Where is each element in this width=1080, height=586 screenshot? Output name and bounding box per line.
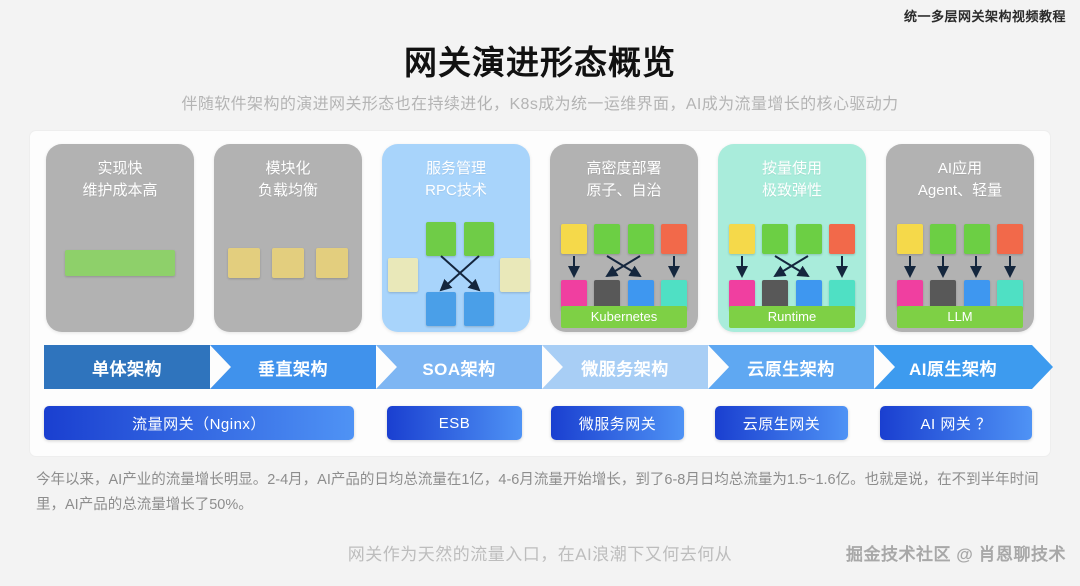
chevron-monolith[interactable]: 单体架构 xyxy=(44,345,210,389)
chevron-notch-icon xyxy=(542,345,563,389)
card-diagram: LLM xyxy=(886,220,1034,332)
chevron-notch-icon xyxy=(874,345,895,389)
chevron-label: 垂直架构 xyxy=(258,355,328,380)
gateway-label: 云原生网关 xyxy=(743,413,821,434)
chevron-soa[interactable]: SOA架构 xyxy=(376,345,542,389)
vertical-block xyxy=(316,248,348,278)
chevron-label: 云原生架构 xyxy=(747,355,835,380)
gateway-pill-nginx[interactable]: 流量网关（Nginx） xyxy=(44,406,354,440)
card-diagram: Kubernetes xyxy=(550,220,698,332)
summary-paragraph: 今年以来，AI产业的流量增长明显。2-4月，AI产品的日均总流量在1亿，4-6月… xyxy=(36,468,1044,518)
card-title-line-1: 实现快 xyxy=(46,158,194,180)
card-title-line-1: 高密度部署 xyxy=(550,158,698,180)
card-title: 高密度部署 原子、自治 xyxy=(550,158,698,202)
architecture-timeline: 单体架构 垂直架构 SOA架构 微服务架构 云原生架构 xyxy=(44,345,1032,389)
card-title-line-2: Agent、轻量 xyxy=(886,180,1034,202)
chevron-label: 单体架构 xyxy=(92,355,162,380)
card-microservice[interactable]: 高密度部署 原子、自治 xyxy=(550,144,698,332)
platform-label: Kubernetes xyxy=(561,306,687,328)
chevron-tip-icon xyxy=(1032,345,1053,389)
card-title: 服务管理 RPC技术 xyxy=(382,158,530,202)
card-title-line-1: AI应用 xyxy=(886,158,1034,180)
vertical-block xyxy=(272,248,304,278)
card-title-line-1: 服务管理 xyxy=(382,158,530,180)
card-title-line-1: 模块化 xyxy=(214,158,362,180)
card-diagram: Runtime xyxy=(718,220,866,332)
card-title-line-1: 按量使用 xyxy=(718,158,866,180)
card-title: 模块化 负载均衡 xyxy=(214,158,362,202)
soa-link-arrows xyxy=(382,220,530,332)
chevron-microservice[interactable]: 微服务架构 xyxy=(542,345,708,389)
tutorial-label: 统一多层网关架构视频教程 xyxy=(904,6,1066,25)
card-diagram xyxy=(46,220,194,332)
chevron-label: 微服务架构 xyxy=(581,355,669,380)
gateway-label: 微服务网关 xyxy=(579,413,657,434)
vertical-block xyxy=(228,248,260,278)
platform-label: Runtime xyxy=(729,306,855,328)
card-title: 实现快 维护成本高 xyxy=(46,158,194,202)
card-ai-native[interactable]: AI应用 Agent、轻量 xyxy=(886,144,1034,332)
card-title-line-2: 极致弹性 xyxy=(718,180,866,202)
card-title-line-2: 维护成本高 xyxy=(46,180,194,202)
card-title-line-2: 原子、自治 xyxy=(550,180,698,202)
monolith-block xyxy=(65,250,175,276)
chevron-label: SOA架构 xyxy=(422,355,495,380)
card-diagram xyxy=(214,220,362,332)
card-diagram xyxy=(382,220,530,332)
card-title: AI应用 Agent、轻量 xyxy=(886,158,1034,202)
chevron-notch-icon xyxy=(376,345,397,389)
gateway-pill-esb[interactable]: ESB xyxy=(387,406,522,440)
chevron-notch-icon xyxy=(210,345,231,389)
gateway-label: AI 网关 ？ xyxy=(920,413,991,434)
slide-root: 统一多层网关架构视频教程 网关演进形态概览 伴随软件架构的演进网关形态也在持续进… xyxy=(0,0,1080,586)
card-title-line-2: 负载均衡 xyxy=(214,180,362,202)
card-soa[interactable]: 服务管理 RPC技术 xyxy=(382,144,530,332)
chevron-ai-native[interactable]: AI原生架构 xyxy=(874,345,1032,389)
gateway-label: ESB xyxy=(439,415,471,432)
vertical-blocks xyxy=(228,248,348,278)
card-title-line-2: RPC技术 xyxy=(382,180,530,202)
gateway-pill-ai[interactable]: AI 网关 ？ xyxy=(880,406,1032,440)
chevron-cloud-native[interactable]: 云原生架构 xyxy=(708,345,874,389)
page-title: 网关演进形态概览 xyxy=(0,36,1080,84)
gateway-label: 流量网关（Nginx） xyxy=(132,413,266,434)
page-subtitle: 伴随软件架构的演进网关形态也在持续进化，K8s成为统一运维界面，AI成为流量增长… xyxy=(0,90,1080,114)
chevron-label: AI原生架构 xyxy=(909,355,997,380)
card-cloud-native[interactable]: 按量使用 极致弹性 xyxy=(718,144,866,332)
gateway-pill-cloud-native[interactable]: 云原生网关 xyxy=(715,406,848,440)
top-bar: 统一多层网关架构视频教程 xyxy=(0,0,1080,26)
chevron-vertical[interactable]: 垂直架构 xyxy=(210,345,376,389)
watermark-credit: 掘金技术社区 @ 肖恩聊技术 xyxy=(846,540,1066,565)
card-title: 按量使用 极致弹性 xyxy=(718,158,866,202)
stage-cards: 实现快 维护成本高 模块化 负载均衡 xyxy=(46,144,1034,332)
gateway-pill-microservice[interactable]: 微服务网关 xyxy=(551,406,684,440)
card-vertical[interactable]: 模块化 负载均衡 xyxy=(214,144,362,332)
main-panel: 实现快 维护成本高 模块化 负载均衡 xyxy=(30,131,1050,456)
gateway-row: 流量网关（Nginx） ESB 微服务网关 云原生网关 AI 网关 ？ xyxy=(44,406,1032,440)
card-monolith[interactable]: 实现快 维护成本高 xyxy=(46,144,194,332)
platform-label: LLM xyxy=(897,306,1023,328)
chevron-notch-icon xyxy=(708,345,729,389)
